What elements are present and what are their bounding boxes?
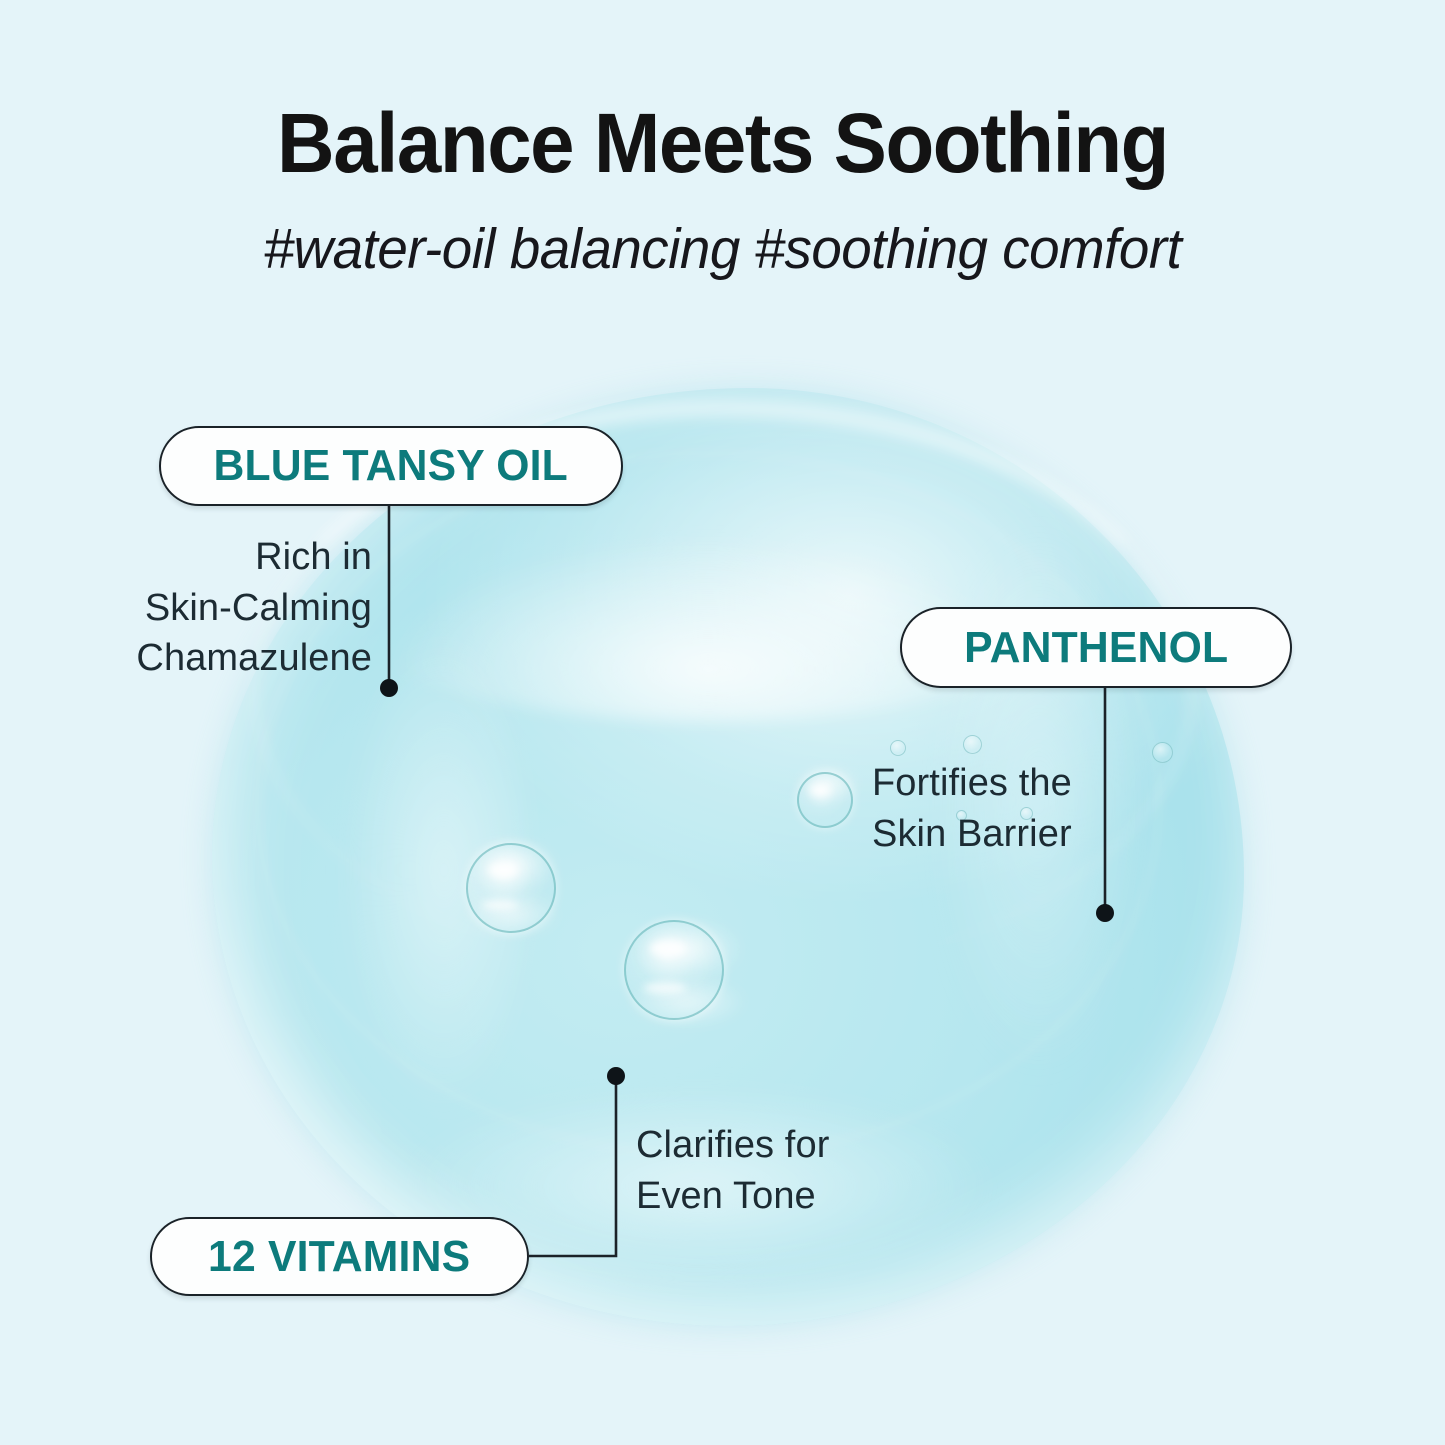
callout-pill-panthenol[interactable]: PANTHENOL xyxy=(900,607,1292,688)
callout-description-blue-tansy-oil: Rich in Skin-Calming Chamazulene xyxy=(20,532,372,684)
infographic-canvas: Balance Meets Soothing #water-oil balanc… xyxy=(0,0,1445,1445)
page-title: Balance Meets Soothing xyxy=(36,95,1409,192)
bubble-large xyxy=(624,920,724,1020)
bubble-highlight xyxy=(810,785,830,795)
page-subtitle: #water-oil balancing #soothing comfort xyxy=(29,216,1416,282)
callout-pill-label: BLUE TANSY OIL xyxy=(214,441,568,491)
callout-description-12-vitamins: Clarifies for Even Tone xyxy=(636,1120,976,1221)
bubble-highlight xyxy=(482,900,518,910)
callout-pill-12-vitamins[interactable]: 12 VITAMINS xyxy=(150,1217,529,1296)
bubble-highlight xyxy=(650,940,686,957)
bubble-small xyxy=(797,772,853,828)
callout-pill-label: PANTHENOL xyxy=(964,623,1228,673)
callout-pill-label: 12 VITAMINS xyxy=(208,1232,470,1282)
bubble-tiny xyxy=(890,740,906,756)
bubble-highlight xyxy=(488,862,518,878)
bubble-medium xyxy=(466,843,556,933)
bubble-highlight xyxy=(644,982,686,994)
callout-pill-blue-tansy-oil[interactable]: BLUE TANSY OIL xyxy=(159,426,623,506)
callout-description-panthenol: Fortifies the Skin Barrier xyxy=(872,758,1202,859)
bubble-tiny xyxy=(963,735,982,754)
